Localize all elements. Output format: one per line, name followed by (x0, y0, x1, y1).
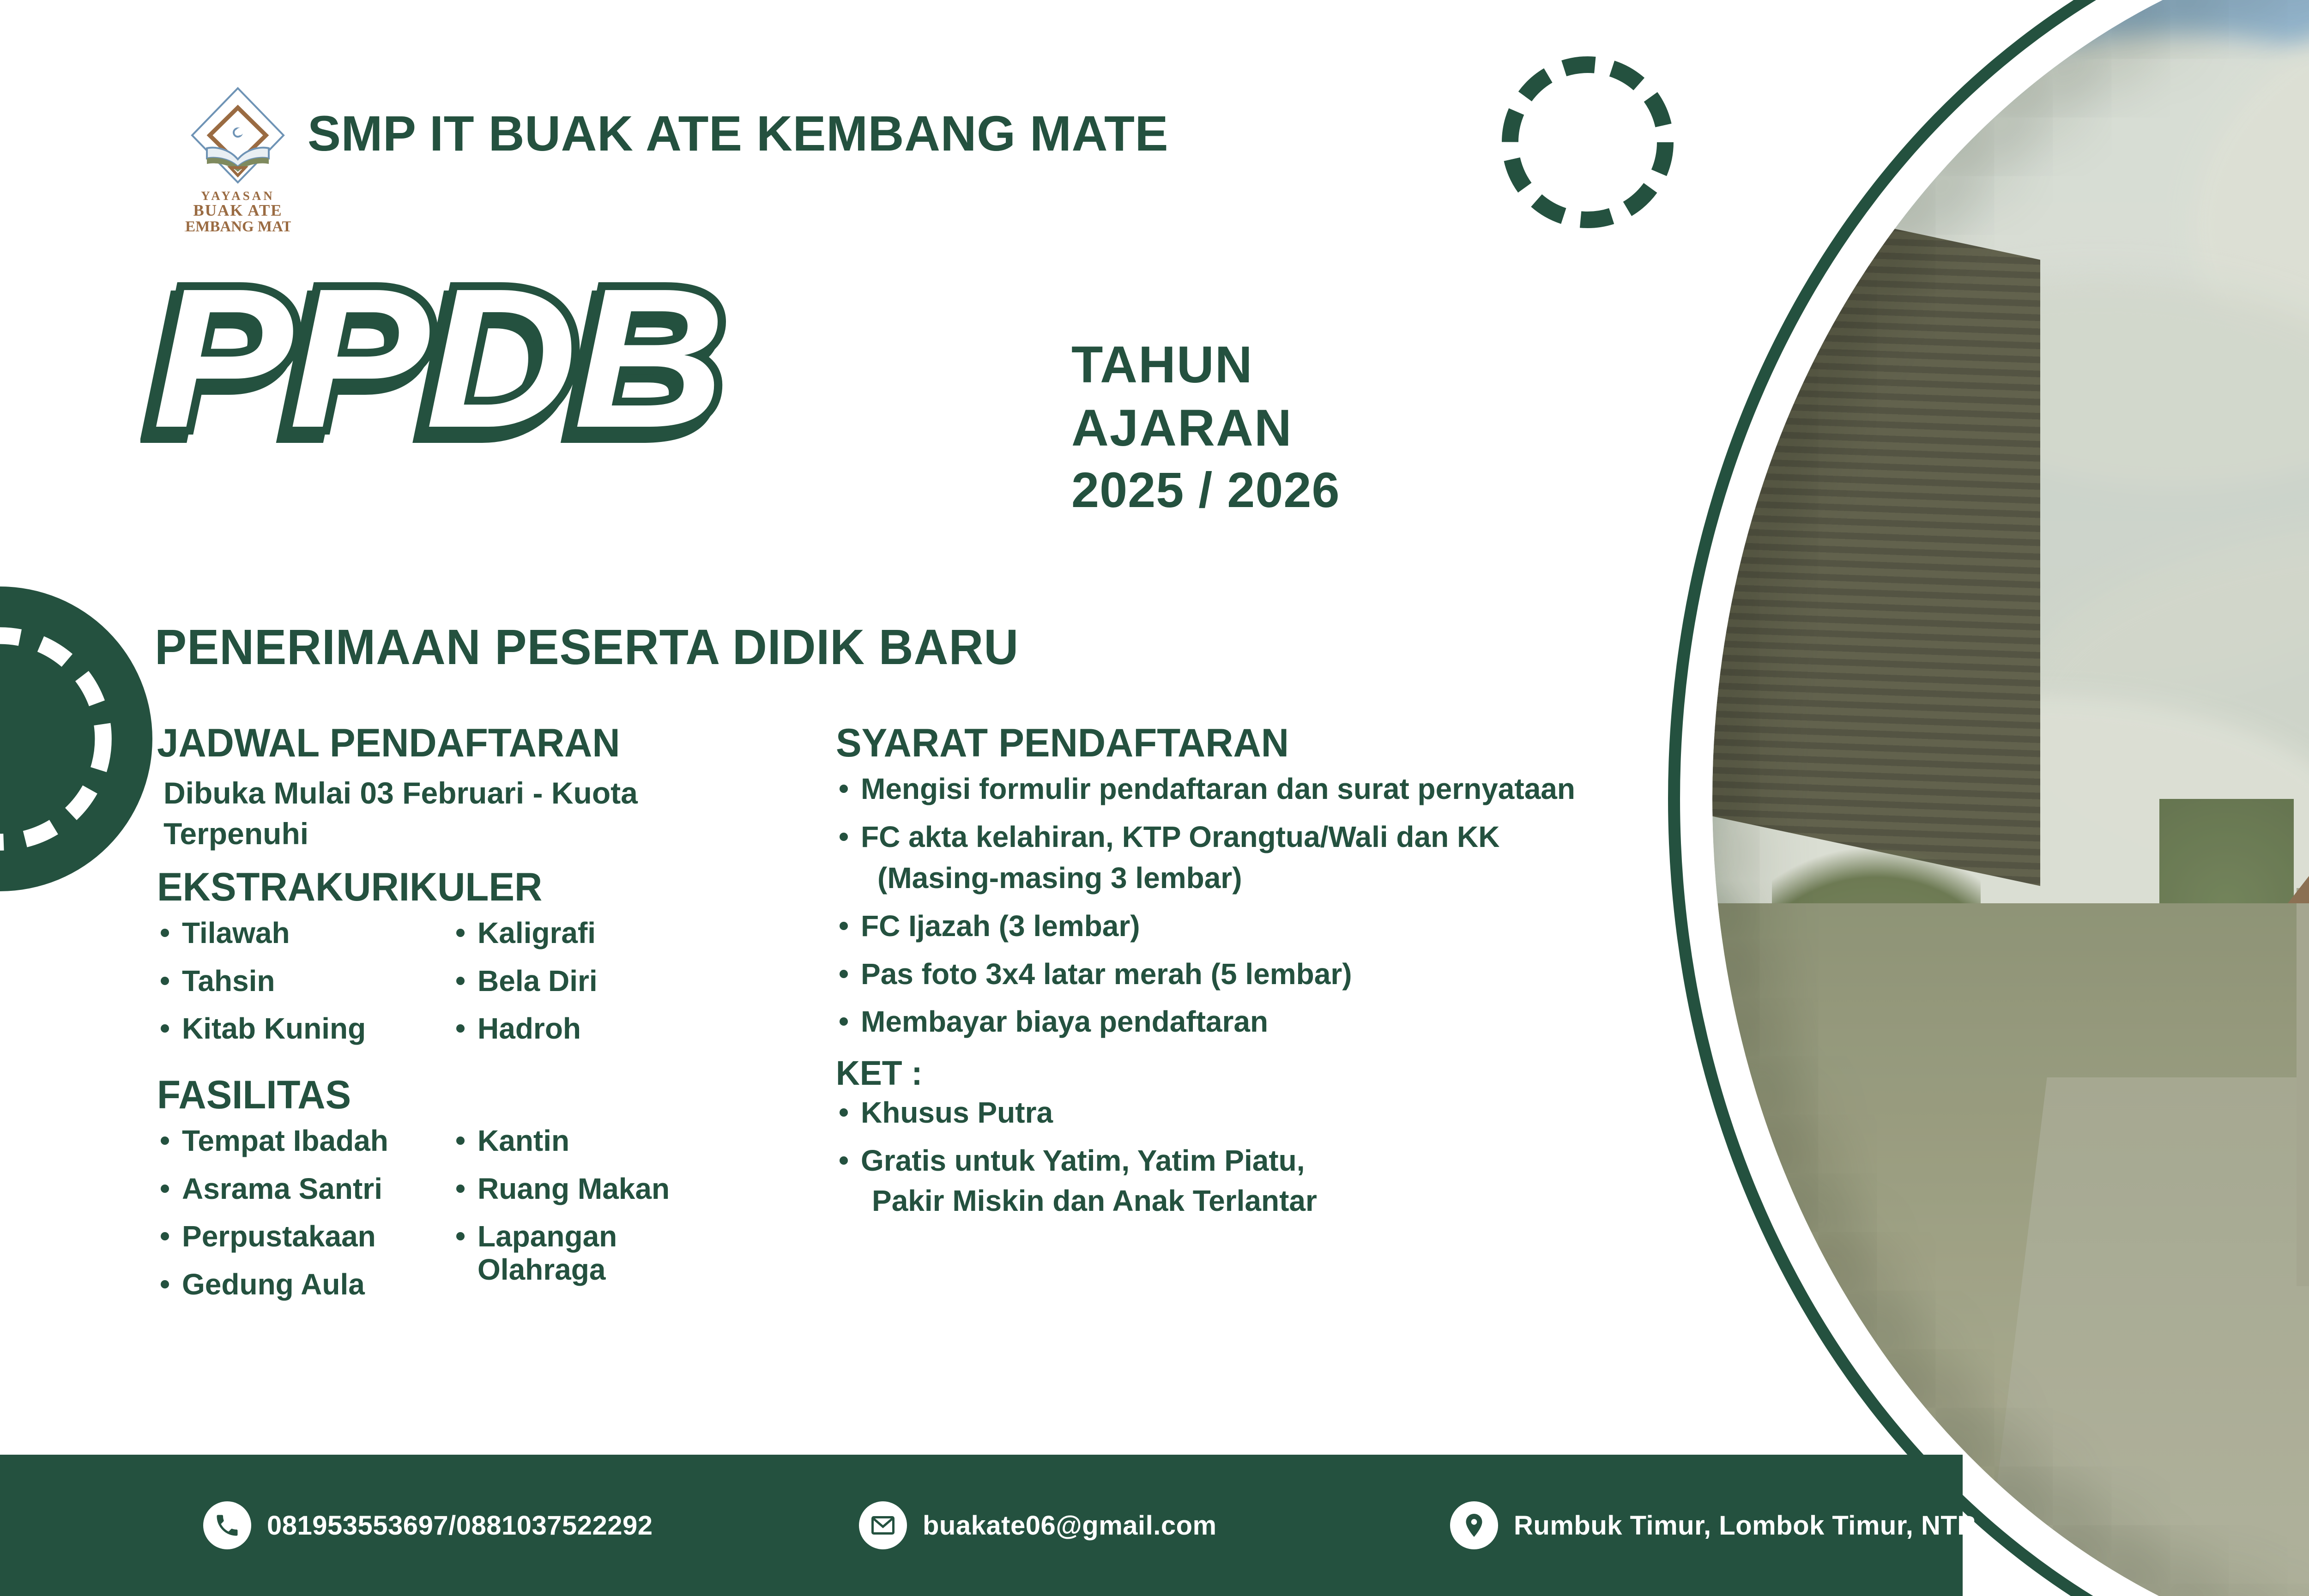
list-item: Kaligrafi (453, 917, 693, 950)
tahun-line-2: AJARAN (1071, 397, 1340, 460)
list-item: Tempat Ibadah (157, 1124, 453, 1158)
facilities-list-1: Tempat Ibadah Asrama Santri Perpustakaan… (157, 1124, 453, 1316)
email-text: buakate06@gmail.com (923, 1510, 1217, 1541)
requirement-cont: (Masing-masing 3 lembar) (861, 862, 1815, 895)
contact-footer: 081953553697/0881037522292 buakate06@gma… (0, 1455, 1963, 1596)
contact-email[interactable]: buakate06@gmail.com (859, 1501, 1217, 1549)
list-item: Mengisi formulir pendaftaran dan surat p… (836, 773, 1815, 806)
list-item: Gedung Aula (157, 1268, 453, 1301)
tahun-line-1: TAHUN (1071, 333, 1340, 397)
requirement-main: Membayar biaya pendaftaran (861, 1005, 1268, 1038)
notes-heading: KET : (836, 1053, 1785, 1093)
list-item: Pas foto 3x4 latar merah (5 lembar) (836, 958, 1815, 991)
school-logo-icon: YAYASAN BUAK ATE KEMBANG MATE (185, 81, 291, 233)
notes-list: Khusus Putra Gratis untuk Yatim, Yatim P… (836, 1096, 1815, 1218)
list-item: Tilawah (157, 917, 453, 950)
extracurricular-list-2: Kaligrafi Bela Diri Hadroh (453, 917, 693, 1060)
list-item: FC Ijazah (3 lembar) (836, 910, 1815, 943)
note-cont: Pakir Miskin dan Anak Terlantar (861, 1185, 1815, 1218)
right-column: SYARAT PENDAFTARAN Mengisi formulir pend… (808, 720, 1815, 1316)
dashed-circle-decoration (1495, 50, 1680, 235)
left-column: JADWAL PENDAFTARAN Dibuka Mulai 03 Febru… (152, 720, 808, 1316)
address-text: Rumbuk Timur, Lombok Timur, NTB (1514, 1510, 1977, 1541)
extracurricular-list-1: Tilawah Tahsin Kitab Kuning (157, 917, 453, 1060)
list-item: Membayar biaya pendaftaran (836, 1005, 1815, 1039)
note-main: Gratis untuk Yatim, Yatim Piatu, (861, 1144, 1305, 1177)
academic-year-block: TAHUN AJARAN 2025 / 2026 (1071, 333, 1340, 520)
list-item: Khusus Putra (836, 1096, 1815, 1130)
poster-header: YAYASAN BUAK ATE KEMBANG MATE SMP IT BUA… (185, 81, 1168, 233)
contact-address[interactable]: Rumbuk Timur, Lombok Timur, NTB (1450, 1501, 1977, 1549)
facilities-heading: FASILITAS (157, 1072, 789, 1118)
schedule-heading: JADWAL PENDAFTARAN (157, 720, 789, 766)
page-subtitle: PENERIMAAN PESERTA DIDIK BARU (155, 618, 1019, 676)
requirement-main: FC Ijazah (3 lembar) (861, 909, 1140, 943)
content-columns: JADWAL PENDAFTARAN Dibuka Mulai 03 Febru… (152, 720, 1815, 1316)
extracurricular-heading: EKSTRAKURIKULER (157, 864, 789, 910)
schedule-note: Dibuka Mulai 03 Februari - Kuota Terpenu… (163, 773, 745, 854)
note-main: Khusus Putra (861, 1096, 1053, 1129)
phone-icon (203, 1501, 251, 1549)
list-item: Tahsin (157, 965, 453, 998)
requirements-list: Mengisi formulir pendaftaran dan surat p… (836, 773, 1815, 1039)
list-item: Ruang Makan (453, 1173, 693, 1206)
logo-text-line1: YAYASAN (201, 189, 275, 203)
list-item: Hadroh (453, 1012, 693, 1046)
extracurricular-lists: Tilawah Tahsin Kitab Kuning Kaligrafi Be… (157, 917, 808, 1060)
green-circle-decoration (0, 586, 152, 891)
facilities-lists: Tempat Ibadah Asrama Santri Perpustakaan… (157, 1124, 808, 1316)
list-item: Perpustakaan (157, 1220, 453, 1253)
tahun-year: 2025 / 2026 (1071, 459, 1340, 520)
logo-text-line3: KEMBANG MATE (185, 218, 291, 233)
logo-text-line2: BUAK ATE (193, 201, 282, 219)
list-item: Asrama Santri (157, 1173, 453, 1206)
ppdb-title: PPDB (152, 277, 721, 440)
school-name: SMP IT BUAK ATE KEMBANG MATE (308, 104, 1168, 162)
requirement-main: Pas foto 3x4 latar merah (5 lembar) (861, 957, 1352, 991)
requirement-main: Mengisi formulir pendaftaran dan surat p… (861, 772, 1575, 805)
list-item: Kitab Kuning (157, 1012, 453, 1046)
list-item: Lapangan Olahraga (453, 1220, 693, 1286)
envelope-icon (859, 1501, 907, 1549)
poster-canvas: YAYASAN BUAK ATE KEMBANG MATE SMP IT BUA… (0, 0, 2309, 1596)
list-item: Bela Diri (453, 965, 693, 998)
ppdb-title-wrap: PPDB PPDB (152, 277, 1067, 517)
facilities-list-2: Kantin Ruang Makan Lapangan Olahraga (453, 1124, 693, 1316)
list-item: FC akta kelahiran, KTP Orangtua/Wali dan… (836, 821, 1815, 895)
list-item: Kantin (453, 1124, 693, 1158)
dashed-ring-inner (0, 619, 120, 859)
requirements-heading: SYARAT PENDAFTARAN (836, 720, 1785, 766)
hero-block: PPDB PPDB TAHUN AJARAN 2025 / 2026 (152, 277, 1340, 520)
requirement-main: FC akta kelahiran, KTP Orangtua/Wali dan… (861, 820, 1499, 853)
phone-text: 081953553697/0881037522292 (267, 1510, 653, 1541)
map-pin-icon (1450, 1501, 1498, 1549)
contact-phone[interactable]: 081953553697/0881037522292 (203, 1501, 653, 1549)
list-item: Gratis untuk Yatim, Yatim Piatu, Pakir M… (836, 1144, 1815, 1218)
